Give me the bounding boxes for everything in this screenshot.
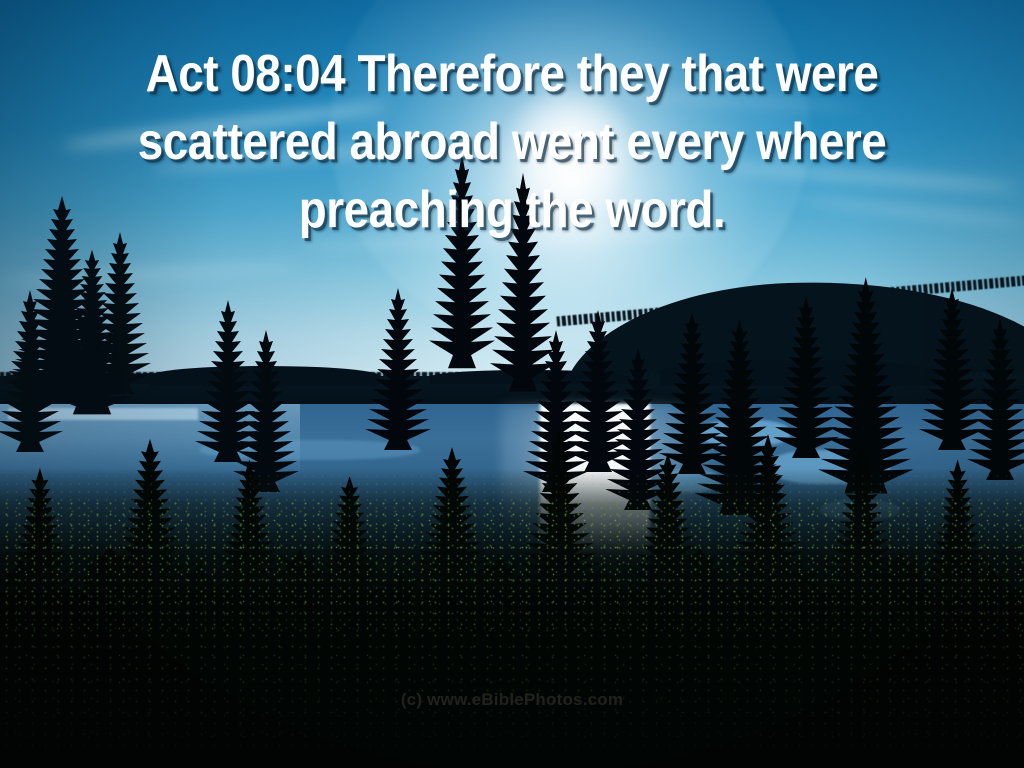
verse-line-1: Act 08:04 Therefore they that were [61, 40, 962, 108]
foliage-speckle-texture [0, 498, 1024, 748]
watermark-credit: (c) www.eBiblePhotos.com [0, 690, 1024, 710]
verse-line-3: preaching the word. [61, 176, 962, 244]
shore-bump [0, 372, 160, 384]
lake-light-strip [8, 408, 198, 420]
water-glint [200, 440, 420, 460]
water-glint [700, 420, 790, 446]
verse-text-overlay: Act 08:04 Therefore they that were scatt… [0, 40, 1024, 244]
shore-bump [430, 370, 630, 384]
shore-bump [150, 366, 380, 386]
verse-photo-canvas: Act 08:04 Therefore they that were scatt… [0, 0, 1024, 768]
shore-bump [660, 360, 940, 386]
verse-line-2: scattered abroad went every where [61, 108, 962, 176]
